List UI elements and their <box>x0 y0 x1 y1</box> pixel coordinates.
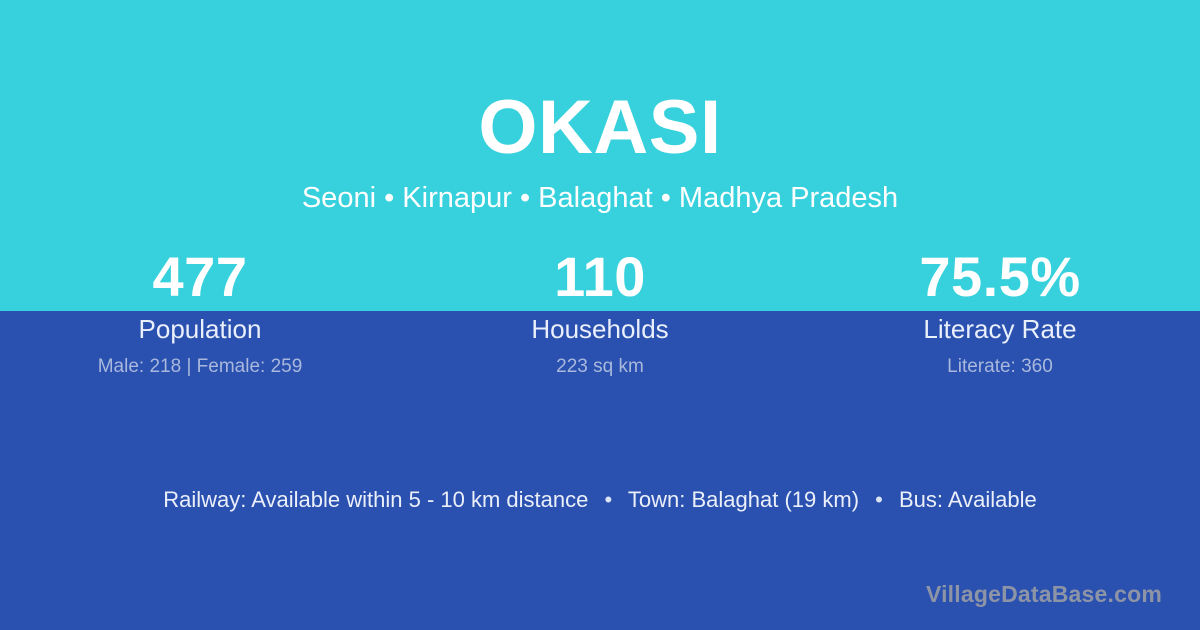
nearest-town-info: Town: Balaghat (19 km) <box>628 487 859 512</box>
breadcrumb: Seoni • Kirnapur • Balaghat • Madhya Pra… <box>0 170 1200 215</box>
stat-literacy-rate: 75.5% Literacy Rate Literate: 360 <box>800 243 1200 379</box>
stat-households: 110 Households 223 sq km <box>400 243 800 379</box>
stat-sublabel: 223 sq km <box>400 345 800 379</box>
stat-value: 477 <box>0 243 400 311</box>
bus-info: Bus: Available <box>899 487 1037 512</box>
stat-label: Literacy Rate <box>800 311 1200 345</box>
village-info-card: OKASI Seoni • Kirnapur • Balaghat • Madh… <box>0 0 1200 630</box>
stat-value: 110 <box>400 243 800 311</box>
stats-row: 477 Population Male: 218 | Female: 259 1… <box>0 243 1200 379</box>
stat-label: Population <box>0 311 400 345</box>
stat-sublabel: Male: 218 | Female: 259 <box>0 345 400 379</box>
stat-value: 75.5% <box>800 243 1200 311</box>
infrastructure-line: Railway: Available within 5 - 10 km dist… <box>0 486 1200 514</box>
site-watermark: VillageDataBase.com <box>926 580 1162 608</box>
railway-info: Railway: Available within 5 - 10 km dist… <box>163 487 588 512</box>
stat-label: Households <box>400 311 800 345</box>
stat-sublabel: Literate: 360 <box>800 345 1200 379</box>
page-title: OKASI <box>0 0 1200 170</box>
bullet-separator-icon: • <box>594 486 622 514</box>
bullet-separator-icon: • <box>865 486 893 514</box>
header: OKASI Seoni • Kirnapur • Balaghat • Madh… <box>0 0 1200 215</box>
stat-population: 477 Population Male: 218 | Female: 259 <box>0 243 400 379</box>
